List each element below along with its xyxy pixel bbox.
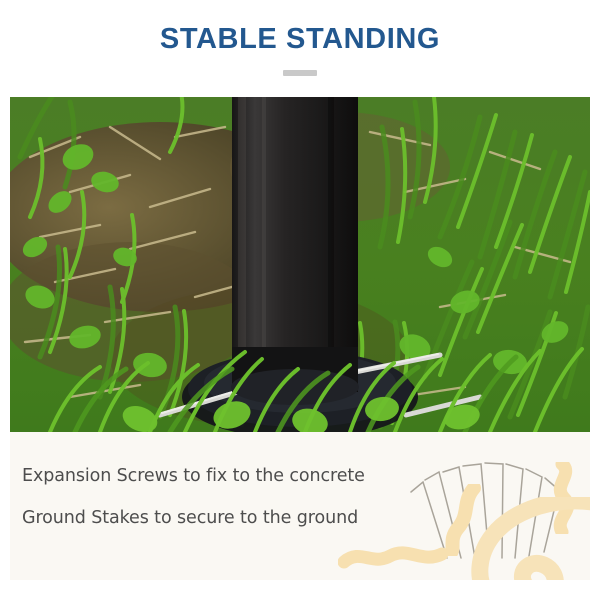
accent-blob-right [542,462,582,534]
caption-line-expansion-screws: Expansion Screws to fix to the concrete [22,468,442,486]
caption-list: Expansion Screws to fix to the concrete … [22,468,442,527]
page-header: STABLE STANDING [0,0,600,97]
caption-panel: Expansion Screws to fix to the concrete … [10,432,590,580]
page-title: STABLE STANDING [0,23,600,56]
caption-line-ground-stakes: Ground Stakes to secure to the ground [22,510,442,528]
title-divider [283,70,317,76]
accent-blob-bottom [338,536,448,576]
spiral-swirl-decoration [450,497,590,580]
product-photo [10,97,590,432]
photo-illustration [10,97,590,432]
accent-blob-center [440,484,492,556]
